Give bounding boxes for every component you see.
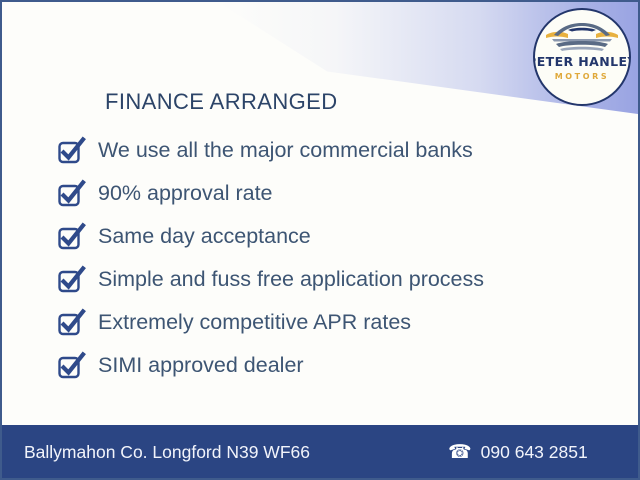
phone-number[interactable]: 090 643 2851 (481, 442, 588, 463)
list-item: Simple and fuss free application process (57, 258, 632, 301)
checkbox-checked-icon (57, 265, 87, 295)
advertisement-banner: PETER HANLEY MOTORS FINANCE ARRANGED We … (0, 0, 640, 480)
checkbox-checked-icon (57, 222, 87, 252)
list-item: 90% approval rate (57, 172, 632, 215)
list-item-label: SIMI approved dealer (98, 355, 304, 377)
list-item: We use all the major commercial banks (57, 129, 632, 172)
list-item-label: We use all the major commercial banks (98, 140, 473, 162)
list-item-label: Simple and fuss free application process (98, 269, 484, 291)
contact-bar: Ballymahon Co. Longford N39 WF66 ☎ 090 6… (0, 425, 640, 480)
logo-company-name: PETER HANLEY (533, 56, 631, 69)
feature-list: We use all the major commercial banks 90… (57, 129, 632, 387)
car-silhouette-icon (542, 21, 622, 55)
address-text: Ballymahon Co. Longford N39 WF66 (24, 442, 310, 463)
phone-group[interactable]: ☎ 090 643 2851 (448, 442, 588, 463)
checkbox-checked-icon (57, 308, 87, 338)
list-item-label: Same day acceptance (98, 226, 311, 248)
telephone-icon: ☎ (448, 443, 472, 462)
list-item: Same day acceptance (57, 215, 632, 258)
list-item-label: Extremely competitive APR rates (98, 312, 411, 334)
list-item: Extremely competitive APR rates (57, 301, 632, 344)
checkbox-checked-icon (57, 136, 87, 166)
list-item-label: 90% approval rate (98, 183, 273, 205)
page-title: FINANCE ARRANGED (105, 89, 338, 115)
list-item: SIMI approved dealer (57, 344, 632, 387)
company-logo: PETER HANLEY MOTORS (533, 8, 631, 106)
checkbox-checked-icon (57, 351, 87, 381)
logo-subtitle: MOTORS (555, 73, 610, 81)
checkbox-checked-icon (57, 179, 87, 209)
